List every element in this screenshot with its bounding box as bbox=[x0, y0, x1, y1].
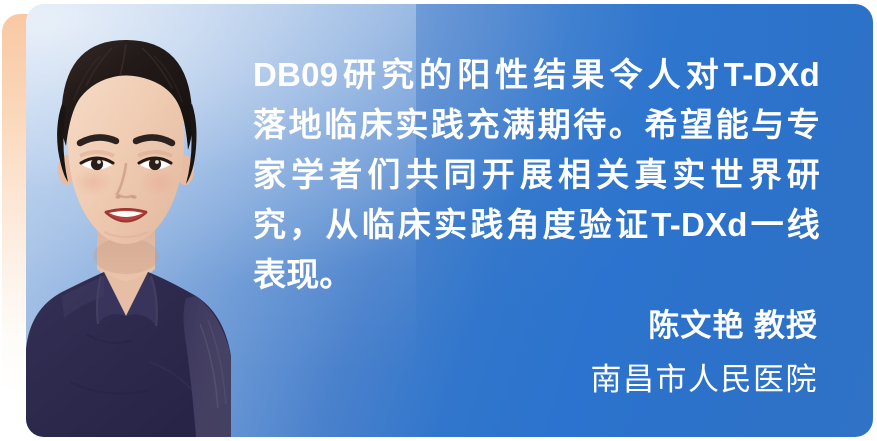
quote-line: 究，从临床实践角度验证T-DXd一线 bbox=[253, 200, 820, 250]
speaker-affiliation: 南昌市人民医院 bbox=[591, 361, 819, 399]
quote-card: DB09研究的阳性结果令人对T-DXd 落地临床实践充满期待。希望能与专 家学者… bbox=[26, 4, 873, 437]
quote-line: DB09研究的阳性结果令人对T-DXd bbox=[253, 50, 820, 100]
speaker-name: 陈文艳 教授 bbox=[591, 307, 819, 345]
quote-line: 家学者们共同开展相关真实世界研 bbox=[253, 150, 820, 200]
quote-text: DB09研究的阳性结果令人对T-DXd 落地临床实践充满期待。希望能与专 家学者… bbox=[253, 50, 820, 300]
quote-line: 表现。 bbox=[253, 250, 820, 300]
speaker-portrait bbox=[26, 4, 252, 437]
attribution: 陈文艳 教授 南昌市人民医院 bbox=[591, 307, 819, 399]
quote-card-banner: DB09研究的阳性结果令人对T-DXd 落地临床实践充满期待。希望能与专 家学者… bbox=[0, 0, 877, 441]
quote-line: 落地临床实践充满期待。希望能与专 bbox=[253, 100, 820, 150]
